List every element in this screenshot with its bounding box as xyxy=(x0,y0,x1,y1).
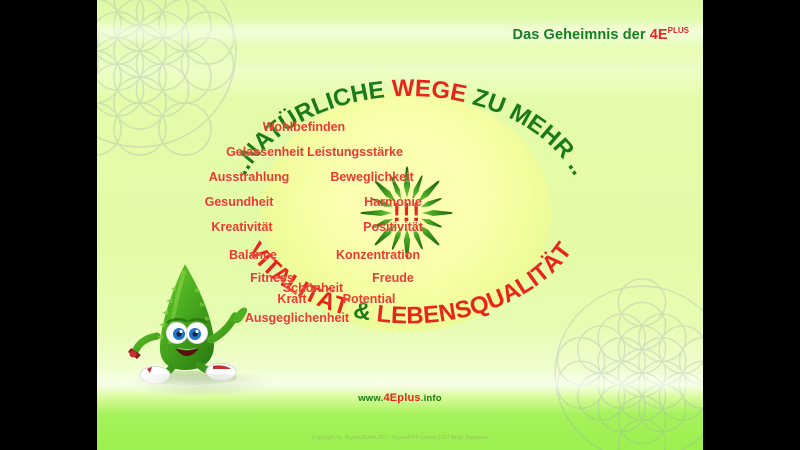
presentation-slide: Das Geheimnis der 4EPLUS xyxy=(97,0,703,450)
word-item: Positivität xyxy=(363,220,423,234)
screenshot-canvas: Das Geheimnis der 4EPLUS xyxy=(0,0,800,450)
url-brand: 4Eplus xyxy=(383,392,420,404)
word-item: Harmonie xyxy=(364,195,422,209)
word-item: Potential xyxy=(343,292,396,306)
arc-text-top: ...NATÜRLICHE WEGE ZU MEHR ... xyxy=(237,58,582,178)
flower-of-life-icon xyxy=(97,0,245,156)
word-item: Kreativität xyxy=(211,220,272,234)
copyright-notice: Copyright by 4EplusTEAM 2017 4EplusPPT-L… xyxy=(97,435,703,441)
url-prefix: www. xyxy=(358,393,383,404)
word-item: Freude xyxy=(372,271,414,285)
url-tld: .info xyxy=(421,393,442,404)
arc-top-seg-2: WEGE xyxy=(392,75,469,108)
word-item: Kraft xyxy=(277,292,306,306)
title-text: Das Geheimnis der xyxy=(513,27,650,43)
word-item: Leistungsstärke xyxy=(307,145,403,159)
word-item: Gelassenheit xyxy=(226,145,304,159)
word-item: Wohlbefinden xyxy=(263,120,345,134)
word-item: Konzentration xyxy=(336,248,420,262)
website-url[interactable]: www.4Eplus.info xyxy=(97,392,703,404)
word-item: Gesundheit xyxy=(205,195,274,209)
arc-top-seg-1: ...NATÜRLICHE xyxy=(237,58,393,178)
svg-text:...NATÜRLICHE WEGE ZU MEHR ...: ...NATÜRLICHE WEGE ZU MEHR ... xyxy=(237,58,582,178)
word-item: Beweglichkeit xyxy=(330,170,413,184)
brand-superscript: PLUS xyxy=(668,26,689,35)
aloe-vera-mascot xyxy=(127,262,262,387)
word-item: Balance xyxy=(229,248,277,262)
page-title: Das Geheimnis der 4EPLUS xyxy=(513,26,689,43)
word-item: Ausstrahlung xyxy=(209,170,290,184)
brand-logo-text: 4E xyxy=(650,27,668,43)
